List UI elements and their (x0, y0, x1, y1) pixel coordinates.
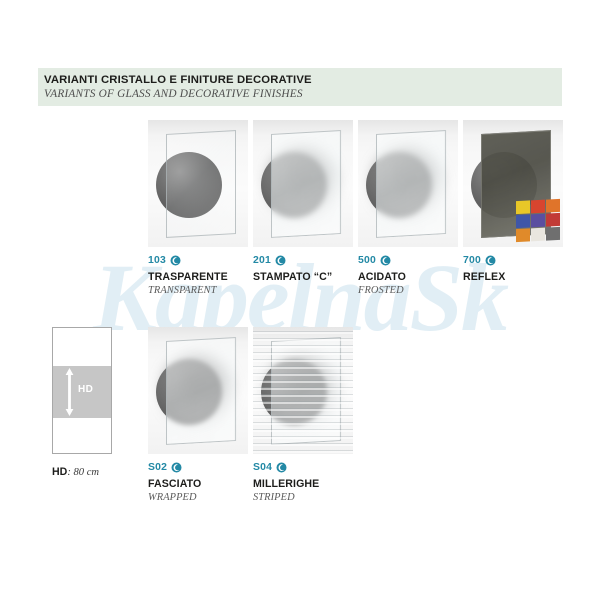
sample-caption-700: 700 REFLEX (463, 254, 563, 283)
sample-code: S02 (148, 462, 167, 473)
sample-card-201[interactable]: 201 STAMPATO “C” (253, 120, 353, 285)
sample-card-500[interactable]: 500 ACIDATO FROSTED (358, 120, 458, 296)
code-line: 201 (253, 254, 353, 267)
hd-band-label: HD (78, 384, 93, 395)
glass-pane-clear (166, 130, 236, 238)
sample-caption-s02: S02 FASCIATO WRAPPED (148, 461, 248, 503)
water-drop-icon (171, 462, 182, 473)
glass-pane-frosted (376, 130, 446, 238)
sample-name-en: FROSTED (358, 285, 458, 296)
water-drop-icon (380, 255, 391, 266)
code-line: 700 (463, 254, 563, 267)
sample-code: 500 (358, 255, 376, 266)
water-drop-icon (275, 255, 286, 266)
water-drop-icon (170, 255, 181, 266)
hd-diagram-block: HD HD: 80 cm (52, 327, 148, 478)
hd-double-arrow-icon (65, 368, 74, 416)
color-checker-chart (516, 199, 560, 242)
hd-caption-value: : 80 cm (67, 467, 99, 478)
glass-pane-wrapped (166, 337, 236, 445)
sample-name-it: MILLERIGHE (253, 478, 353, 490)
sample-caption-500: 500 ACIDATO FROSTED (358, 254, 458, 296)
sample-name-it: TRASPARENTE (148, 271, 248, 283)
glass-pane-frosted (271, 130, 341, 238)
sample-image-500 (358, 120, 458, 247)
code-line: 103 (148, 254, 248, 267)
sample-card-103[interactable]: 103 TRASPARENTE TRANSPARENT (148, 120, 248, 296)
water-drop-icon (276, 462, 287, 473)
page-title: VARIANTI CRISTALLO E FINITURE DECORATIVE (44, 73, 562, 87)
sample-image-103 (148, 120, 248, 247)
stripe-pattern-overlay (253, 327, 353, 454)
hd-diagram-figure: HD (52, 327, 112, 454)
sample-name-it: ACIDATO (358, 271, 458, 283)
sample-name-en: TRANSPARENT (148, 285, 248, 296)
code-line: S02 (148, 461, 248, 474)
code-line: 500 (358, 254, 458, 267)
sample-caption-s04: S04 MILLERIGHE STRIPED (253, 461, 353, 503)
section-header-band: VARIANTI CRISTALLO E FINITURE DECORATIVE… (38, 68, 562, 106)
sample-card-s02[interactable]: S02 FASCIATO WRAPPED (148, 327, 248, 503)
sample-caption-103: 103 TRASPARENTE TRANSPARENT (148, 254, 248, 296)
hd-caption-key: HD (52, 466, 67, 478)
catalog-page: VARIANTI CRISTALLO E FINITURE DECORATIVE… (0, 0, 600, 600)
sample-image-700 (463, 120, 563, 247)
sample-card-s04[interactable]: S04 MILLERIGHE STRIPED (253, 327, 353, 503)
sample-code: 103 (148, 255, 166, 266)
sample-caption-201: 201 STAMPATO “C” (253, 254, 353, 283)
sample-code: S04 (253, 462, 272, 473)
sample-image-s02 (148, 327, 248, 454)
sample-code: 201 (253, 255, 271, 266)
sample-image-201 (253, 120, 353, 247)
hd-caption: HD: 80 cm (52, 466, 148, 478)
water-drop-icon (485, 255, 496, 266)
code-line: S04 (253, 461, 353, 474)
sample-card-700[interactable]: 700 REFLEX (463, 120, 563, 285)
sample-name-en: WRAPPED (148, 492, 248, 503)
sample-name-it: REFLEX (463, 271, 563, 283)
sample-name-it: STAMPATO “C” (253, 271, 353, 283)
sample-name-it: FASCIATO (148, 478, 248, 490)
sample-code: 700 (463, 255, 481, 266)
sample-name-en: STRIPED (253, 492, 353, 503)
sample-image-s04 (253, 327, 353, 454)
page-subtitle: VARIANTS OF GLASS AND DECORATIVE FINISHE… (44, 87, 562, 102)
